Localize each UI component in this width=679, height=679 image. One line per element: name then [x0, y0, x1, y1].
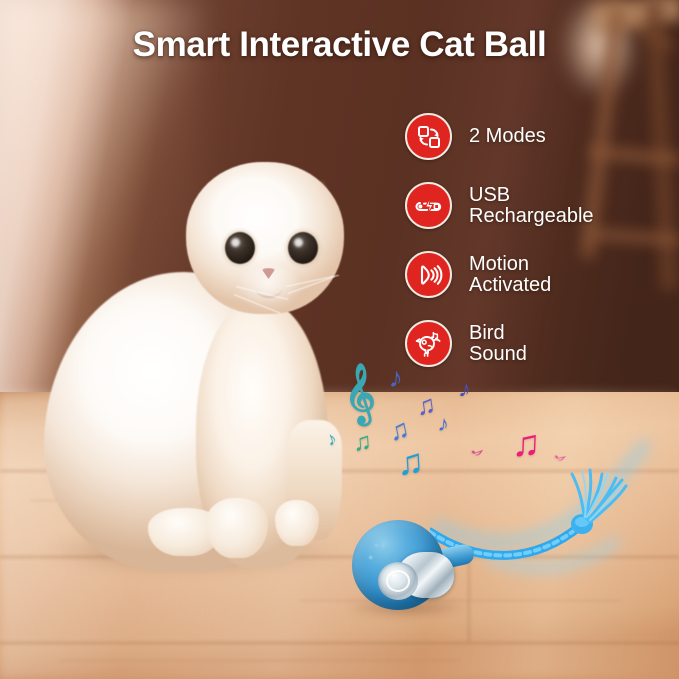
music-note: ♪ — [437, 412, 450, 435]
feature-item-bird-sound: Bird Sound — [405, 309, 675, 378]
cat-eye-highlight-right — [294, 238, 303, 247]
bird-sound-icon — [405, 320, 452, 367]
usb-rechargeable-icon — [405, 182, 452, 229]
music-note: ♫ — [511, 425, 541, 464]
music-note: ♫ — [352, 429, 372, 455]
floor-grain — [60, 660, 460, 661]
feature-label: Motion Activated — [469, 254, 551, 296]
page-title: Smart Interactive Cat Ball — [0, 25, 679, 65]
cat-eye-highlight-left — [231, 238, 240, 247]
ball-wheel-ring — [386, 570, 410, 592]
feature-label: 2 Modes — [469, 126, 546, 147]
music-note: ♪ — [388, 364, 404, 393]
music-note: 𝄞 — [341, 367, 377, 422]
two-modes-icon — [405, 113, 452, 160]
feature-item-2-modes: 2 Modes — [405, 102, 675, 171]
cat-paw — [275, 500, 319, 546]
cat-eye-right — [288, 232, 318, 264]
cat-eye-left — [225, 232, 255, 264]
feature-item-usb-rechargeable: USB Rechargeable — [405, 171, 675, 240]
motion-sensor-icon — [405, 251, 452, 298]
cat-paw — [206, 498, 268, 558]
feature-label: Bird Sound — [469, 323, 527, 365]
floor-plank-seam — [468, 556, 470, 642]
floor-plank-seam — [0, 642, 679, 644]
feature-item-motion-activated: Motion Activated — [405, 240, 675, 309]
product-image-canvas: ●● ● 𝄞♪♫♪♫♪♫♫♪♫♪♪ Smart Interactive Cat … — [0, 0, 679, 679]
ball-paw-emboss: ● — [368, 552, 374, 562]
music-note: ♫ — [414, 391, 437, 419]
feature-label: USB Rechargeable — [469, 185, 594, 227]
music-note: ♫ — [396, 443, 425, 480]
ball-paw-emboss: ●● — [374, 540, 387, 550]
feature-list: 2 Modes USB Rechargeable — [405, 102, 675, 378]
